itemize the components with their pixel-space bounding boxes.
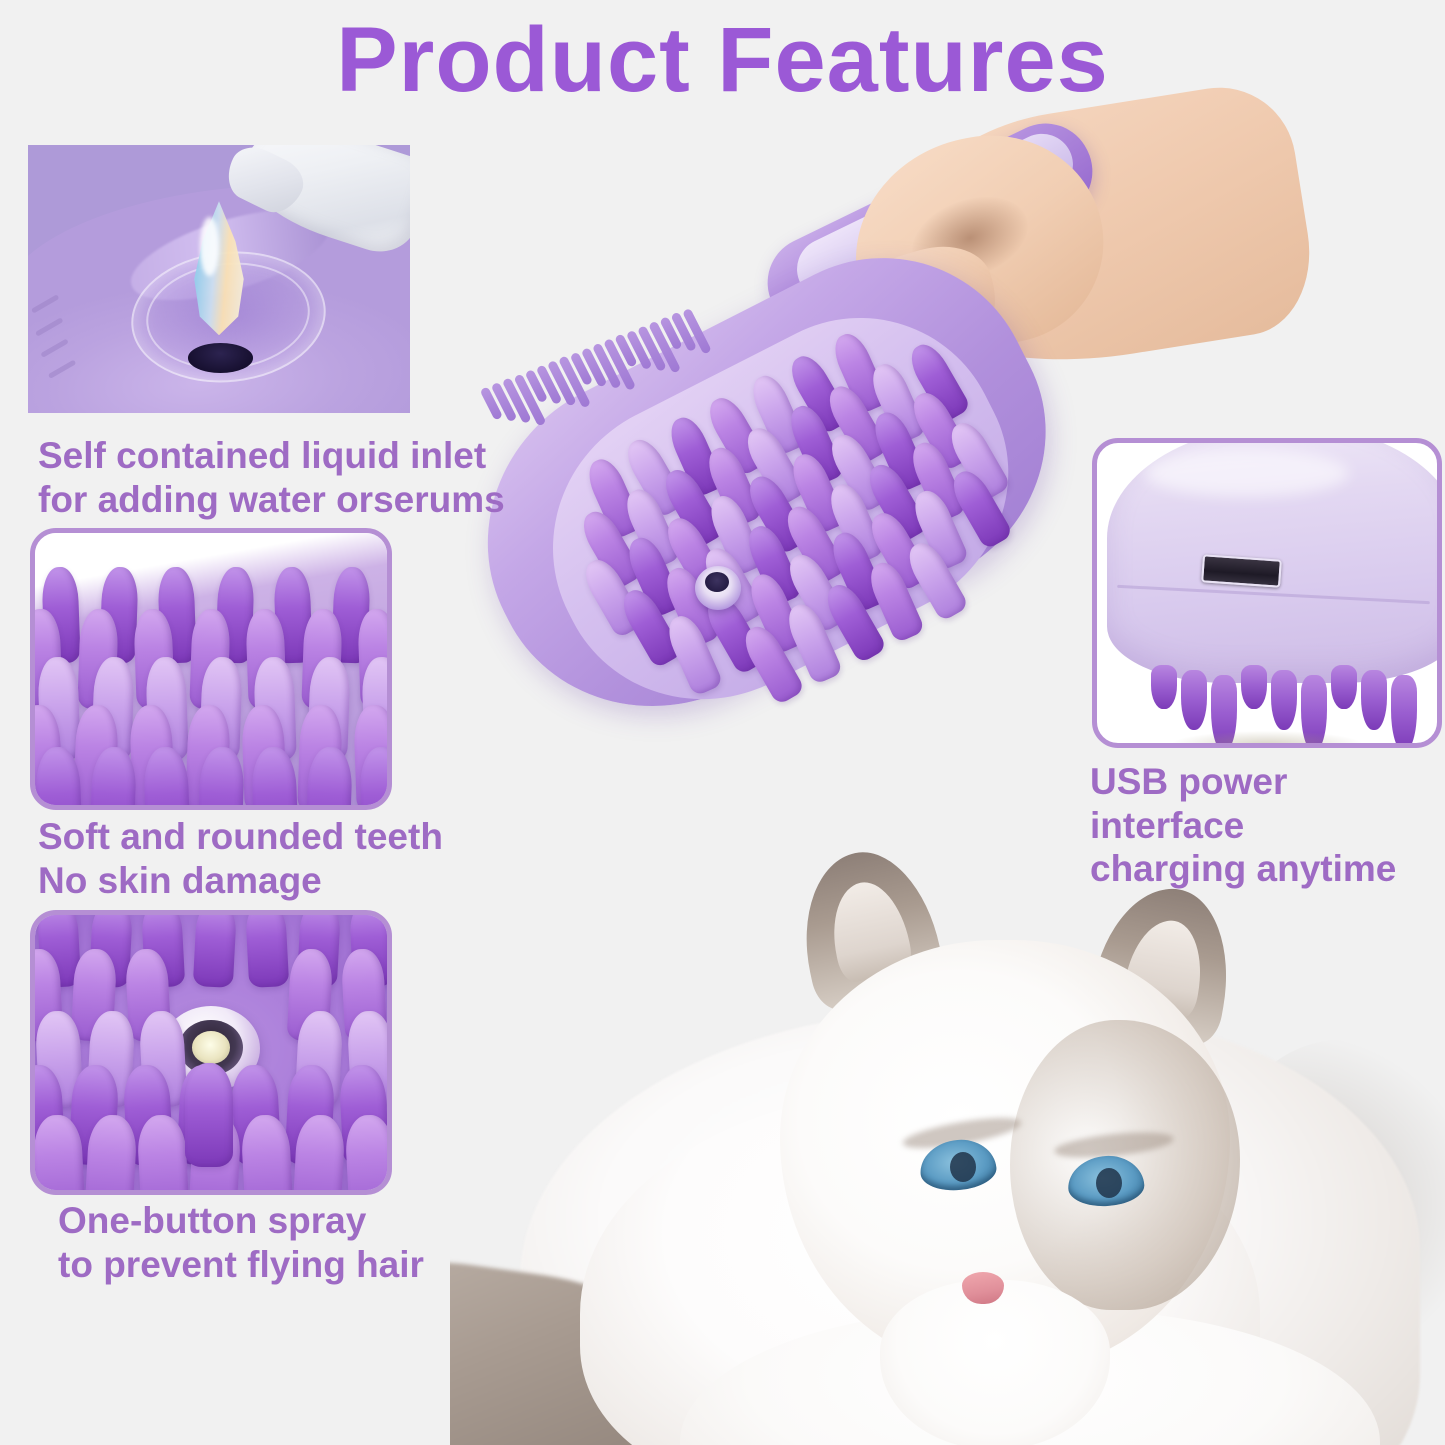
- bristle: [1391, 675, 1417, 743]
- feature-image-usb-charging: [1092, 438, 1442, 748]
- bristle: [193, 915, 237, 988]
- cat-pupil-left: [950, 1152, 976, 1182]
- caption-one-button-spray: One-button spray to prevent flying hair: [58, 1199, 424, 1286]
- spray-nozzle-tip: [192, 1031, 231, 1064]
- housing-highlight: [1145, 449, 1349, 497]
- droplet-gloss: [200, 217, 219, 276]
- feature-image-rounded-teeth: [30, 528, 392, 810]
- usb-port-icon: [1202, 554, 1283, 587]
- cat-muzzle: [880, 1280, 1110, 1445]
- feature-image-one-button-spray: [30, 910, 392, 1195]
- page-title: Product Features: [0, 8, 1445, 113]
- bristle-row: [1151, 659, 1437, 743]
- bristle: [1181, 670, 1207, 730]
- product-features-infographic: Product Features: [0, 0, 1445, 1445]
- bristle: [1151, 665, 1177, 709]
- bristle: [1271, 670, 1297, 730]
- center-spray-nozzle-hole: [705, 572, 729, 592]
- caption-rounded-teeth: Soft and rounded teeth No skin damage: [38, 815, 443, 902]
- cat-photo: [450, 840, 1445, 1445]
- main-product-image: [455, 120, 1175, 880]
- cat-pupil-right: [1096, 1168, 1122, 1198]
- caption-usb-charging: USB power interface charging anytime: [1090, 760, 1445, 891]
- bristle: [1241, 665, 1267, 709]
- inlet-hole: [188, 343, 253, 372]
- feature-image-liquid-inlet: [28, 145, 410, 413]
- brush-bristles: [455, 120, 1175, 880]
- bristle: [1331, 665, 1357, 709]
- bristle-grid: [530, 293, 1040, 738]
- bristle: [245, 915, 289, 988]
- bristle: [185, 1063, 233, 1167]
- bristle: [1361, 670, 1387, 730]
- bristle: [344, 1114, 387, 1190]
- caption-liquid-inlet: Self contained liquid inlet for adding w…: [38, 434, 505, 521]
